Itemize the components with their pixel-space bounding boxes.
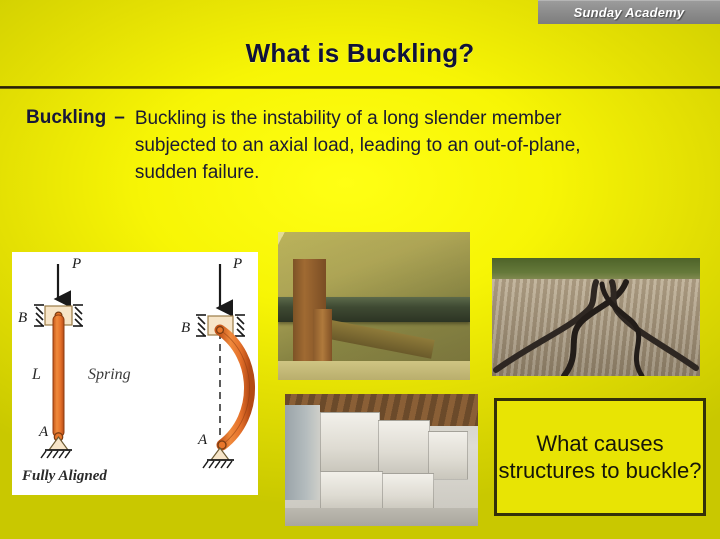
definition-dash: –	[114, 106, 125, 129]
figure-label-B-right: B	[181, 320, 190, 336]
truss-floor	[278, 361, 470, 380]
figure-label-spring: Spring	[88, 366, 131, 383]
wall-block	[378, 420, 430, 475]
figure-caption: Fully Aligned	[21, 468, 107, 484]
definition-text: Buckling is the instability of a long sl…	[135, 106, 615, 187]
question-callout-text: What causes structures to buckle?	[497, 430, 703, 485]
sunday-academy-badge: Sunday Academy	[538, 0, 720, 24]
wall-window-shadow	[285, 405, 320, 500]
figure-label-A-right: A	[197, 432, 208, 448]
page-title-text: What is Buckling?	[246, 38, 475, 68]
railway-track-photo	[492, 258, 700, 376]
wall-block	[382, 473, 434, 512]
buckled-rails-svg	[492, 258, 700, 376]
figure-label-A-left: A	[38, 424, 49, 440]
title-divider	[0, 86, 720, 89]
page-title: What is Buckling?	[0, 38, 720, 69]
buckling-diagram-svg: P B A	[12, 252, 258, 495]
definition-term: Buckling	[26, 106, 106, 129]
roof-truss-photo	[278, 232, 470, 380]
figure-label-P-right: P	[232, 256, 242, 272]
presentation-slide: Sunday Academy What is Buckling? Bucklin…	[0, 0, 720, 539]
badge-label: Sunday Academy	[574, 5, 685, 20]
figure-label-B-left: B	[18, 310, 27, 326]
definition-block: Buckling – Buckling is the instability o…	[26, 106, 694, 187]
figure-label-P-left: P	[71, 256, 81, 272]
buckling-diagram: P B A	[12, 252, 258, 495]
figure-label-L: L	[31, 366, 41, 383]
wall-block	[320, 471, 384, 513]
wall-base	[285, 508, 478, 526]
wall-block	[428, 431, 469, 481]
foundation-wall-photo	[285, 394, 478, 526]
wall-block	[320, 412, 380, 472]
truss-diagonal-beam	[318, 318, 435, 359]
question-callout: What causes structures to buckle?	[494, 398, 706, 516]
